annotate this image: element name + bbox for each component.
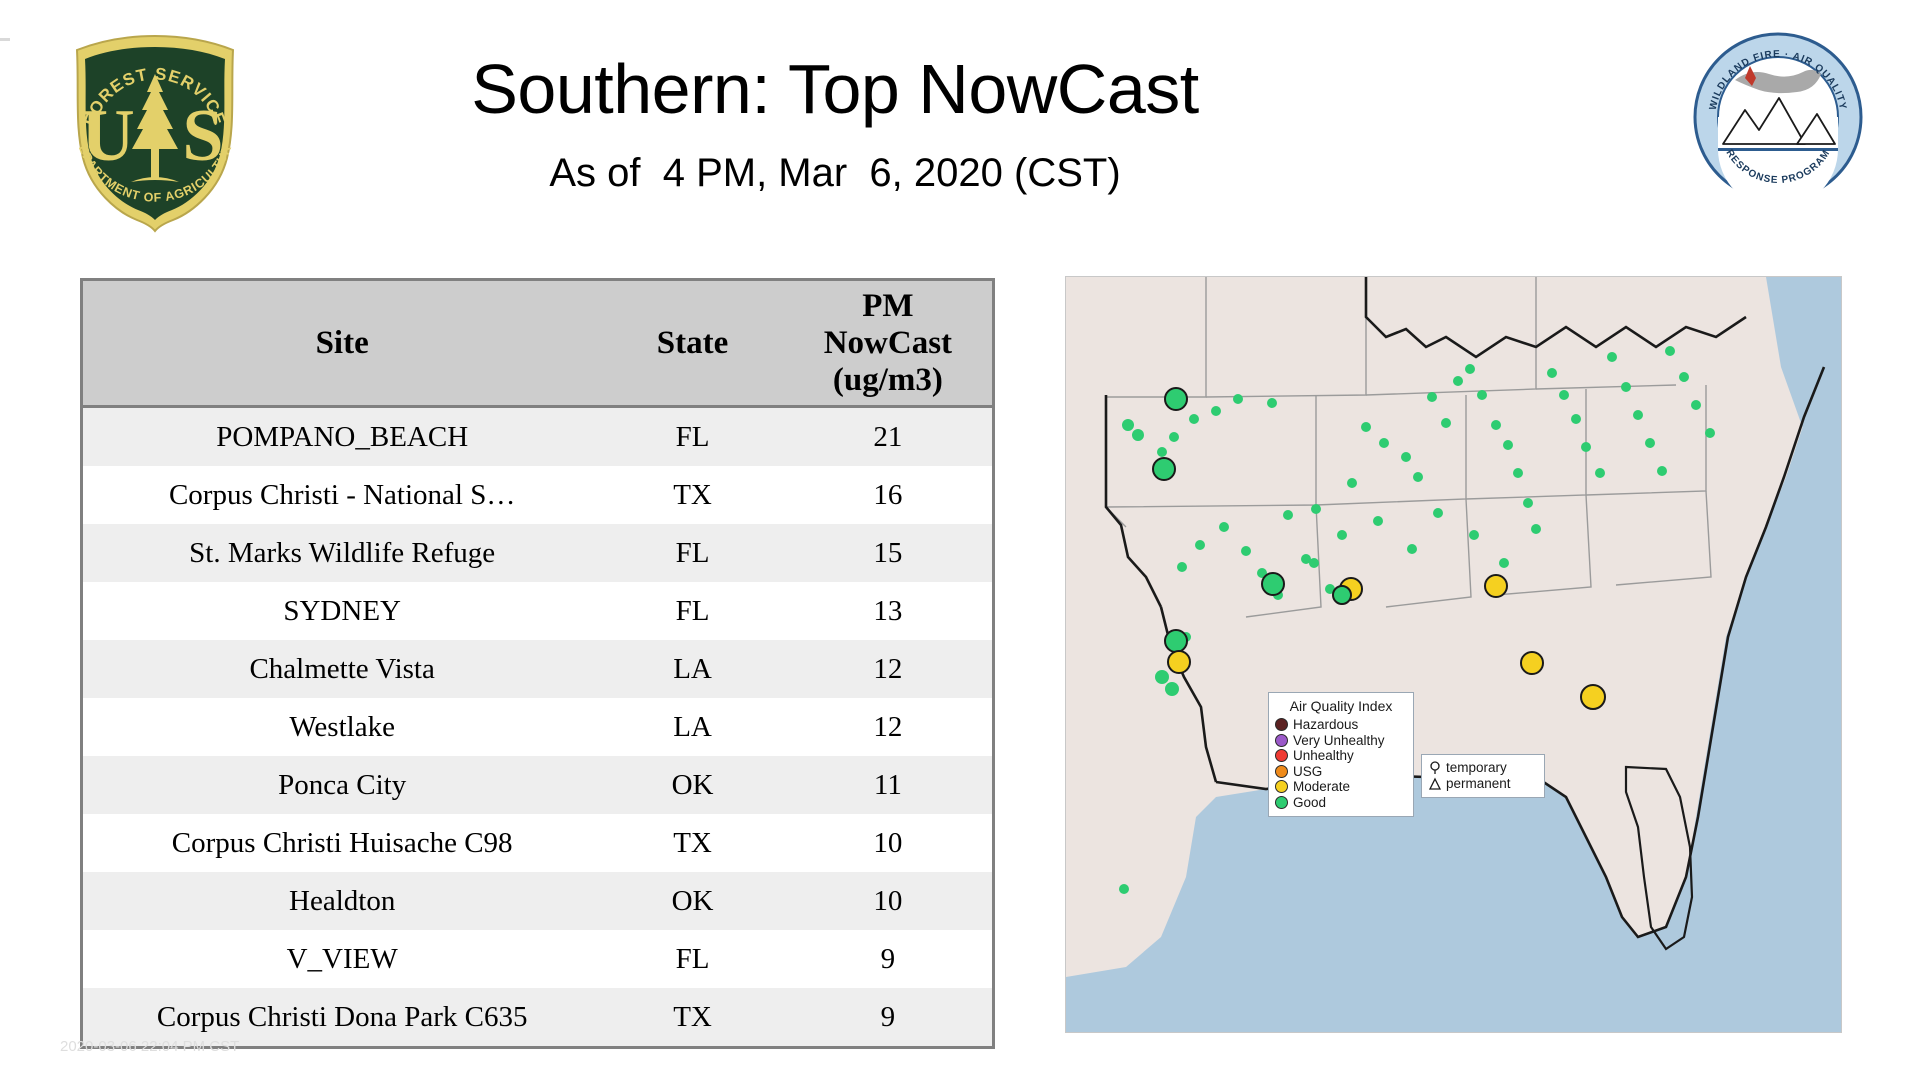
aqi-legend-label: Hazardous: [1293, 717, 1358, 733]
site-legend-label-permanent: permanent: [1446, 776, 1511, 792]
slide-edge-marker: [0, 38, 10, 41]
aqi-color-swatch: [1275, 734, 1288, 747]
air-quality-index-legend: Air Quality Index HazardousVery Unhealth…: [1268, 692, 1414, 817]
table-row[interactable]: WestlakeLA12: [82, 698, 994, 756]
aqi-legend-label: USG: [1293, 764, 1322, 780]
aqi-color-swatch: [1275, 780, 1288, 793]
page-title: Southern: Top NowCast: [330, 48, 1340, 130]
column-header-pm-line3: (ug/m3): [788, 362, 988, 399]
cell-state: TX: [601, 466, 783, 524]
aqi-legend-row: Very Unhealthy: [1275, 733, 1407, 749]
cell-state: OK: [601, 756, 783, 814]
aqi-legend-label: Very Unhealthy: [1293, 733, 1385, 749]
monitor-site-markers: [1066, 277, 1841, 1032]
column-header-site[interactable]: Site: [82, 280, 602, 407]
svg-text:S: S: [182, 95, 223, 177]
footer-timestamp-note: 2020-03-06 22:04 PM CST: [60, 1038, 239, 1055]
southern-region-air-quality-map[interactable]: Air Quality Index HazardousVery Unhealth…: [1065, 276, 1842, 1033]
site-marker-westlake: [1262, 573, 1284, 595]
table-row[interactable]: St. Marks Wildlife RefugeFL15: [82, 524, 994, 582]
circle-glyph: [1428, 761, 1442, 776]
wildland-fire-air-quality-response-program-logo: WILDLAND FIRE · AIR QUALITY RESPONSE PRO…: [1693, 32, 1863, 202]
aqi-legend-row: USG: [1275, 764, 1407, 780]
column-header-pm-line1: PM: [788, 288, 988, 325]
aqi-legend-label: Moderate: [1293, 779, 1350, 795]
cell-site: V_VIEW: [82, 930, 602, 988]
top-nowcast-table: Site State PM NowCast (ug/m3) POMPANO_BE…: [80, 278, 995, 1049]
cell-pm-nowcast: 13: [784, 582, 994, 640]
cell-state: FL: [601, 930, 783, 988]
good-site-dots: [1119, 346, 1715, 894]
table-row[interactable]: POMPANO_BEACHFL21: [82, 407, 994, 467]
site-legend-row-permanent: permanent: [1428, 776, 1538, 792]
site-marker-st-marks: [1485, 575, 1507, 597]
site-marker-corpus-christi-huisache: [1168, 651, 1190, 673]
slide-canvas: FOREST SERVICE DEPARTMENT OF AGRICULTURE…: [0, 0, 1920, 1080]
aqi-legend-title: Air Quality Index: [1275, 698, 1407, 714]
aqi-legend-row: Hazardous: [1275, 717, 1407, 733]
aqi-legend-row: Unhealthy: [1275, 748, 1407, 764]
aqi-legend-label: Unhealthy: [1293, 748, 1354, 764]
cell-site: Chalmette Vista: [82, 640, 602, 698]
column-header-pm-nowcast[interactable]: PM NowCast (ug/m3): [784, 280, 994, 407]
cell-site: POMPANO_BEACH: [82, 407, 602, 467]
table-row[interactable]: HealdtonOK10: [82, 872, 994, 930]
aqi-legend-row: Moderate: [1275, 779, 1407, 795]
cell-pm-nowcast: 15: [784, 524, 994, 582]
cell-pm-nowcast: 9: [784, 930, 994, 988]
table-row[interactable]: Corpus Christi - National S…TX16: [82, 466, 994, 524]
cell-pm-nowcast: 10: [784, 872, 994, 930]
moderate-and-good-highlighted-sites: [1153, 388, 1605, 709]
column-header-pm-line2: NowCast: [788, 325, 988, 362]
cell-state: OK: [601, 872, 783, 930]
table-body: POMPANO_BEACHFL21Corpus Christi - Nation…: [82, 407, 994, 1048]
site-marker-sydney: [1521, 652, 1543, 674]
cell-site: Westlake: [82, 698, 602, 756]
site-marker-chalmette-adjacent: [1333, 586, 1351, 604]
usfs-shield-logo: FOREST SERVICE DEPARTMENT OF AGRICULTURE…: [55, 30, 255, 235]
site-type-legend: temporary permanent: [1421, 754, 1545, 798]
cell-site: Healdton: [82, 872, 602, 930]
cell-site: Corpus Christi Huisache C98: [82, 814, 602, 872]
page-subtitle-timestamp: As of 4 PM, Mar 6, 2020 (CST): [330, 148, 1340, 198]
site-legend-row-temporary: temporary: [1428, 760, 1538, 776]
site-legend-label-temporary: temporary: [1446, 760, 1507, 776]
table-row[interactable]: Chalmette VistaLA12: [82, 640, 994, 698]
cell-pm-nowcast: 9: [784, 988, 994, 1048]
aqi-legend-row: Good: [1275, 795, 1407, 811]
cell-state: TX: [601, 988, 783, 1048]
site-marker-corpus-christi-national: [1165, 630, 1187, 652]
cell-state: FL: [601, 582, 783, 640]
aqi-legend-label: Good: [1293, 795, 1326, 811]
cell-pm-nowcast: 12: [784, 640, 994, 698]
cell-pm-nowcast: 11: [784, 756, 994, 814]
table-row[interactable]: Ponca CityOK11: [82, 756, 994, 814]
cell-pm-nowcast: 16: [784, 466, 994, 524]
cell-site: SYDNEY: [82, 582, 602, 640]
svg-text:U: U: [81, 95, 134, 177]
cell-site: Ponca City: [82, 756, 602, 814]
cell-pm-nowcast: 12: [784, 698, 994, 756]
cell-pm-nowcast: 21: [784, 407, 994, 467]
cell-state: LA: [601, 698, 783, 756]
cell-site: Corpus Christi - National S…: [82, 466, 602, 524]
triangle-glyph: [1428, 777, 1442, 792]
table-row[interactable]: SYDNEYFL13: [82, 582, 994, 640]
cell-state: FL: [601, 524, 783, 582]
site-marker-pompano-beach: [1581, 685, 1605, 709]
table-row[interactable]: Corpus Christi Huisache C98TX10: [82, 814, 994, 872]
cell-state: LA: [601, 640, 783, 698]
aqi-color-swatch: [1275, 796, 1288, 809]
site-marker-healdton: [1153, 458, 1175, 480]
cell-site: St. Marks Wildlife Refuge: [82, 524, 602, 582]
cell-state: TX: [601, 814, 783, 872]
column-header-state[interactable]: State: [601, 280, 783, 407]
table-row[interactable]: V_VIEWFL9: [82, 930, 994, 988]
table-header: Site State PM NowCast (ug/m3): [82, 280, 994, 407]
cell-pm-nowcast: 10: [784, 814, 994, 872]
table-header-row: Site State PM NowCast (ug/m3): [82, 280, 994, 407]
aqi-color-swatch: [1275, 718, 1288, 731]
aqi-color-swatch: [1275, 765, 1288, 778]
aqi-legend-rows: HazardousVery UnhealthyUnhealthyUSGModer…: [1275, 717, 1407, 810]
site-marker-ponca-city: [1165, 388, 1187, 410]
aqi-color-swatch: [1275, 749, 1288, 762]
cell-state: FL: [601, 407, 783, 467]
